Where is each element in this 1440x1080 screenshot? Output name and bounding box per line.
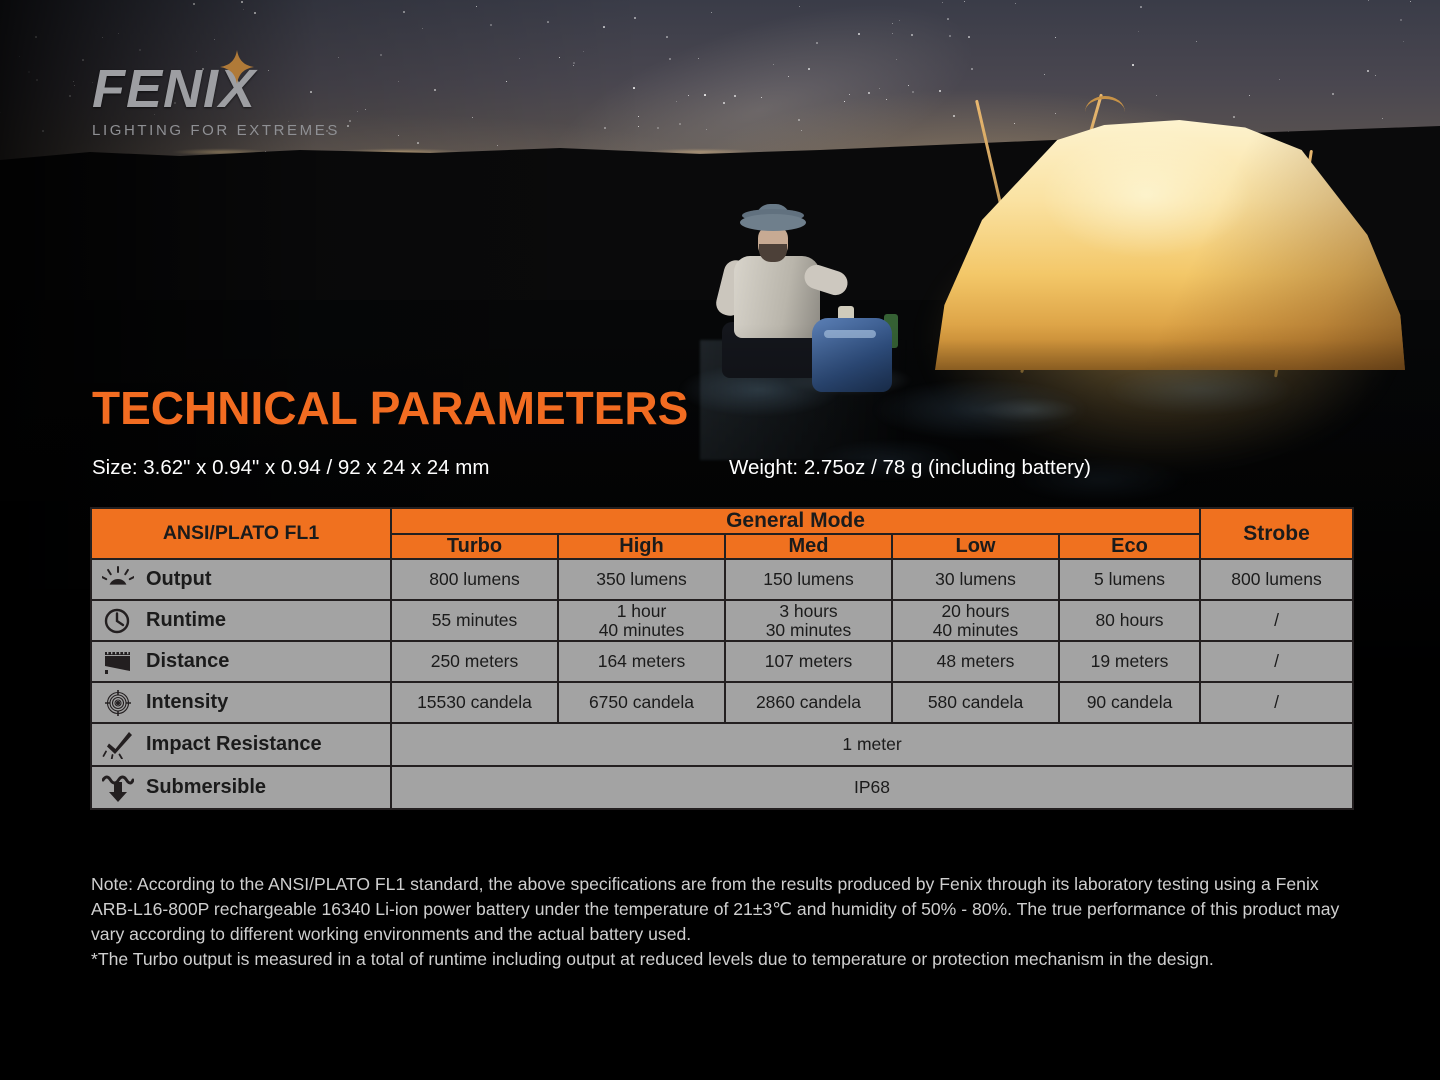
cell-output-turbo: 800 lumens [391, 559, 558, 600]
cell-distance-med: 107 meters [725, 641, 892, 682]
submersible-waves-icon [102, 774, 134, 802]
cell-runtime-high: 1 hour40 minutes [558, 600, 725, 641]
beam-distance-icon [102, 648, 134, 676]
cell-distance-eco: 19 meters [1059, 641, 1200, 682]
cell-distance-high: 164 meters [558, 641, 725, 682]
impact-arrow-icon [102, 731, 134, 759]
weight-spec: Weight: 2.75oz / 78 g (including battery… [729, 456, 1091, 480]
header-row-top: ANSI/PLATO FL1 General Mode Strobe [91, 508, 1353, 534]
table-row: Intensity15530 candela6750 candela2860 c… [91, 682, 1353, 723]
sunburst-icon [102, 566, 134, 594]
row-label-runtime: Runtime [91, 600, 391, 641]
cell-distance-low: 48 meters [892, 641, 1059, 682]
header-mode-eco: Eco [1059, 534, 1200, 559]
header-strobe: Strobe [1200, 508, 1353, 559]
four-point-star-icon [220, 50, 254, 84]
cell-intensity-turbo: 15530 candela [391, 682, 558, 723]
cell-output-low: 30 lumens [892, 559, 1059, 600]
table-head: ANSI/PLATO FL1 General Mode Strobe Turbo… [91, 508, 1353, 559]
table-row: Distance250 meters164 meters107 meters48… [91, 641, 1353, 682]
cell-submersible-value: IP68 [391, 766, 1353, 809]
cell-intensity-high: 6750 candela [558, 682, 725, 723]
cell-output-med: 150 lumens [725, 559, 892, 600]
header-mode-low: Low [892, 534, 1059, 559]
clock-icon [102, 607, 134, 635]
fenix-logo: FENIX LIGHTING FOR EXTREMES [92, 62, 412, 139]
cell-runtime-strobe: / [1200, 600, 1353, 641]
cell-intensity-eco: 90 candela [1059, 682, 1200, 723]
cell-impact-resistance-value: 1 meter [391, 723, 1353, 766]
target-intensity-icon [102, 689, 134, 717]
cell-intensity-low: 580 candela [892, 682, 1059, 723]
row-label-distance: Distance [91, 641, 391, 682]
row-label-text: Output [146, 568, 212, 591]
cell-intensity-strobe: / [1200, 682, 1353, 723]
cell-runtime-turbo: 55 minutes [391, 600, 558, 641]
cell-runtime-low: 20 hours40 minutes [892, 600, 1059, 641]
header-ansi-plato: ANSI/PLATO FL1 [91, 508, 391, 559]
technical-parameters-page: FENIX LIGHTING FOR EXTREMES TECHNICAL PA… [0, 0, 1440, 1080]
header-mode-med: Med [725, 534, 892, 559]
page-title: TECHNICAL PARAMETERS [92, 381, 688, 435]
cell-runtime-eco: 80 hours [1059, 600, 1200, 641]
table-row: SubmersibleIP68 [91, 766, 1353, 809]
footnote: Note: According to the ANSI/PLATO FL1 st… [91, 872, 1363, 972]
brand-tagline: LIGHTING FOR EXTREMES [92, 122, 412, 139]
cell-output-strobe: 800 lumens [1200, 559, 1353, 600]
cell-distance-turbo: 250 meters [391, 641, 558, 682]
header-mode-turbo: Turbo [391, 534, 558, 559]
table-body: Output800 lumens350 lumens150 lumens30 l… [91, 559, 1353, 809]
size-spec: Size: 3.62" x 0.94" x 0.94 / 92 x 24 x 2… [92, 456, 489, 480]
footnote-line-2: *The Turbo output is measured in a total… [91, 947, 1363, 972]
cell-output-eco: 5 lumens [1059, 559, 1200, 600]
row-label-output: Output [91, 559, 391, 600]
technical-parameters-table: ANSI/PLATO FL1 General Mode Strobe Turbo… [90, 507, 1352, 810]
table-row: Impact Resistance1 meter [91, 723, 1353, 766]
row-label-text: Runtime [146, 610, 226, 631]
row-label-text: Submersible [146, 776, 266, 799]
row-label-text: Impact Resistance [146, 733, 322, 756]
row-label-text: Distance [146, 650, 229, 673]
row-label-submersible: Submersible [91, 766, 391, 809]
table-row: Output800 lumens350 lumens150 lumens30 l… [91, 559, 1353, 600]
header-mode-high: High [558, 534, 725, 559]
cell-intensity-med: 2860 candela [725, 682, 892, 723]
cell-output-high: 350 lumens [558, 559, 725, 600]
footnote-line-1: Note: According to the ANSI/PLATO FL1 st… [91, 872, 1363, 947]
cell-runtime-med: 3 hours30 minutes [725, 600, 892, 641]
row-label-text: Intensity [146, 691, 228, 714]
cell-distance-strobe: / [1200, 641, 1353, 682]
header-general-mode: General Mode [391, 508, 1200, 534]
row-label-intensity: Intensity [91, 682, 391, 723]
table-row: Runtime55 minutes1 hour40 minutes3 hours… [91, 600, 1353, 641]
row-label-impact-resistance: Impact Resistance [91, 723, 391, 766]
